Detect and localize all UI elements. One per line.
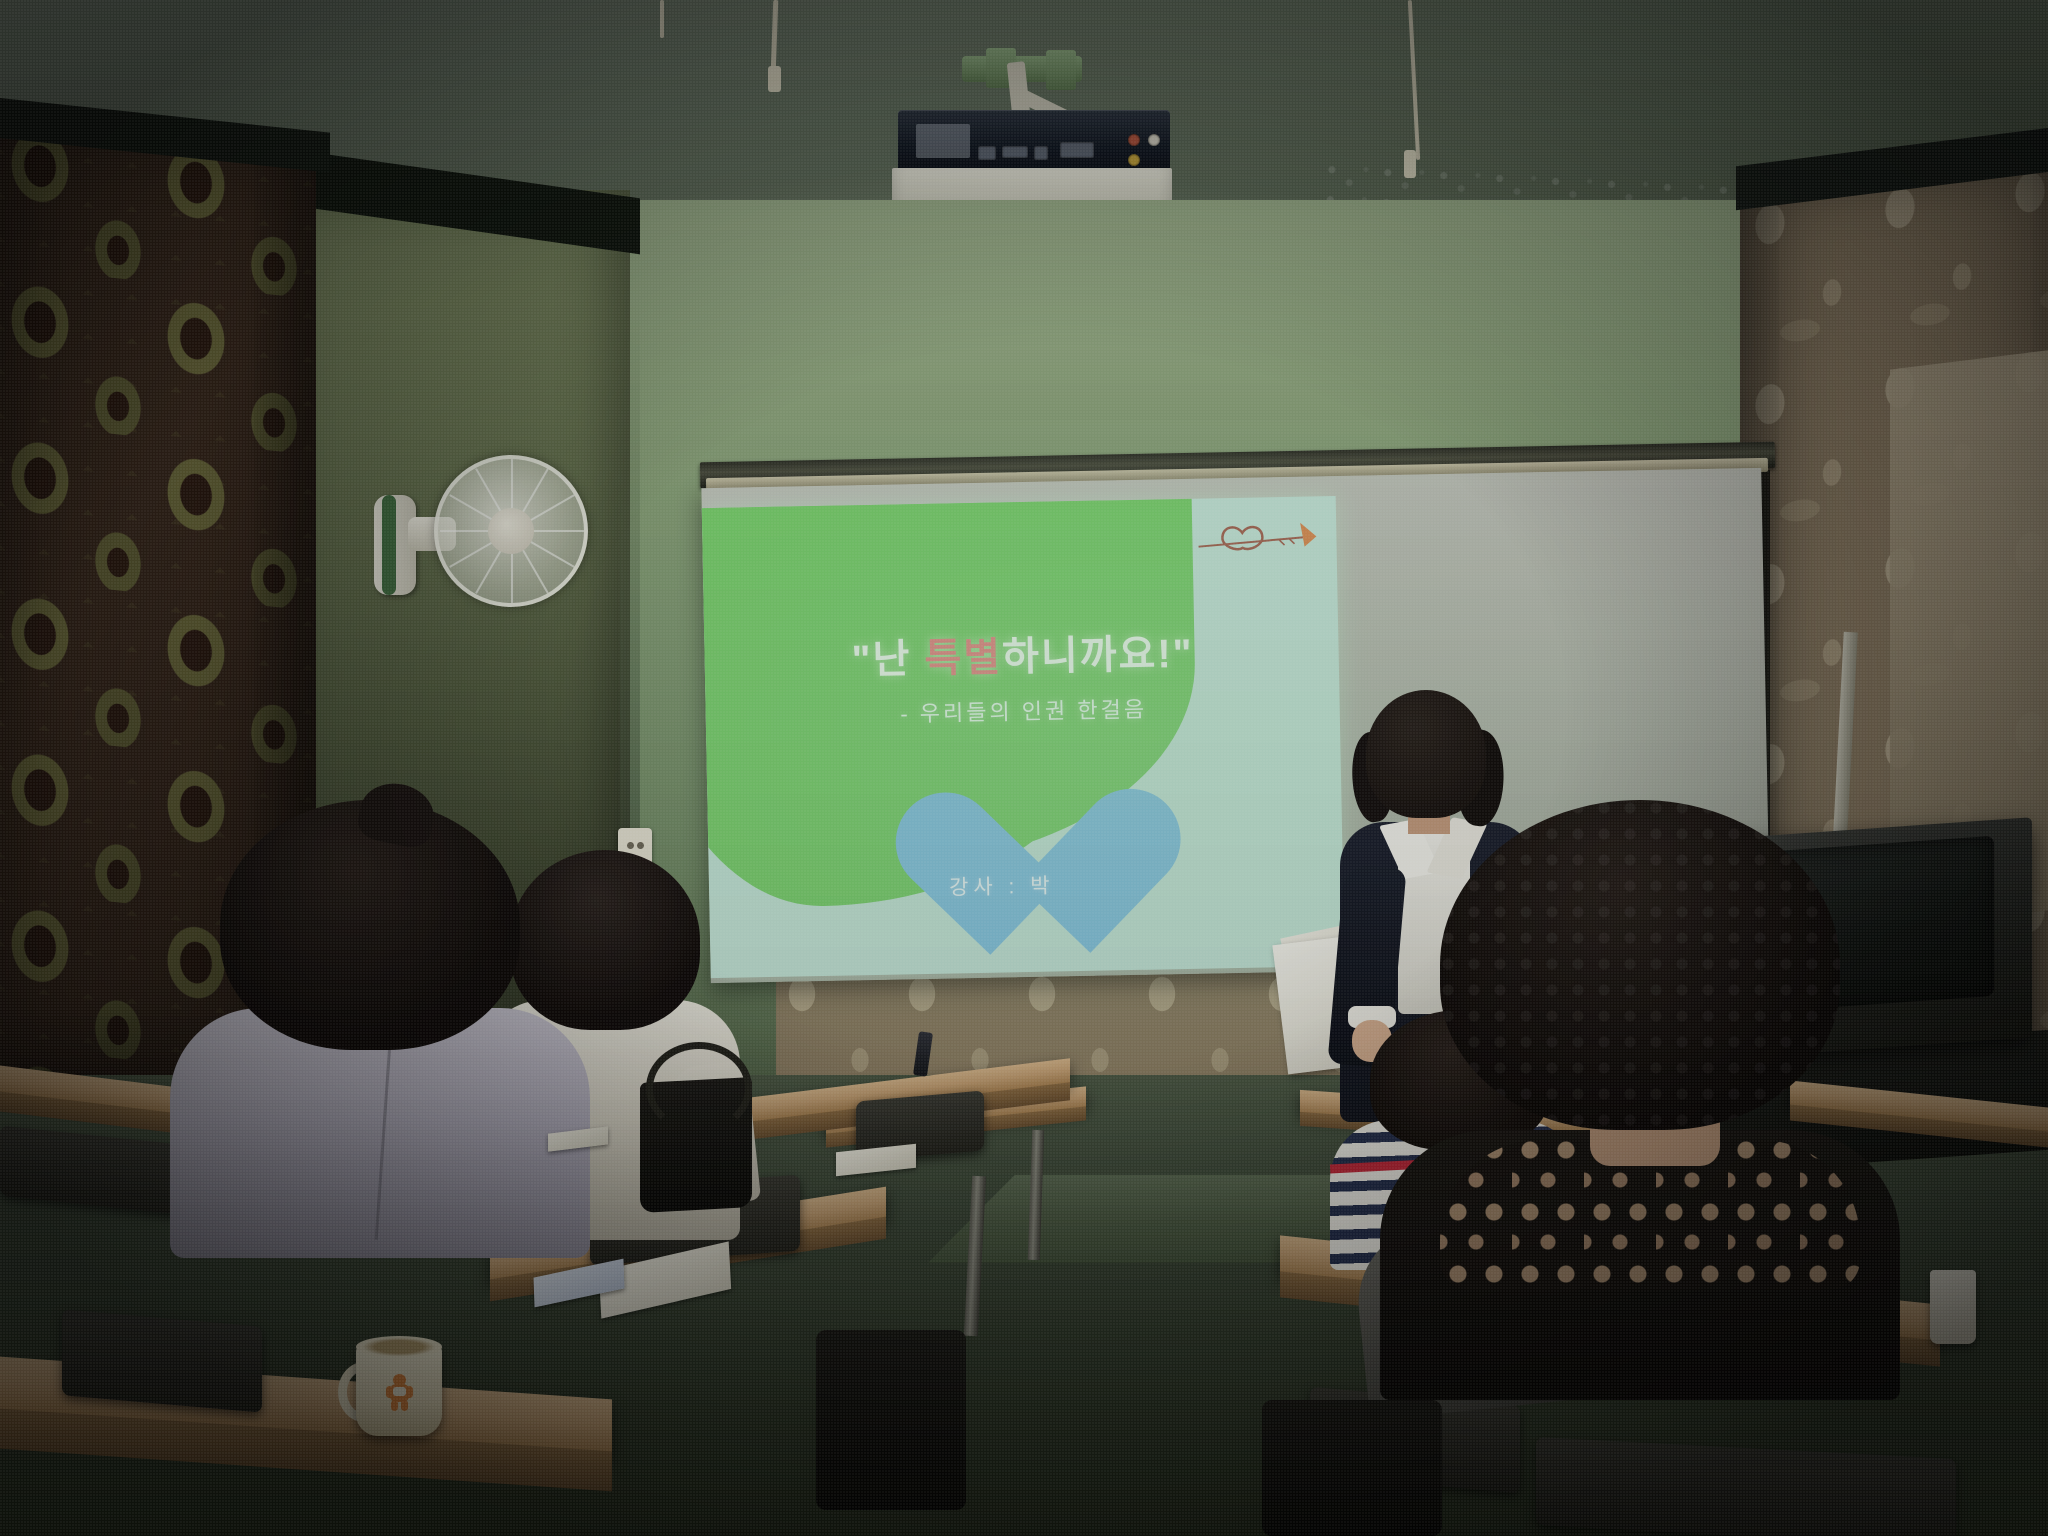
socket-hole-left — [627, 842, 634, 849]
projector-port-rca-yellow — [1128, 154, 1140, 166]
heart-kite-logo-icon — [1192, 506, 1323, 554]
wall-fan-hub — [488, 508, 534, 554]
wall-fan-bracket-insert — [382, 495, 396, 595]
coffee-mug-rim — [356, 1336, 442, 1358]
hanging-cord-far-left — [660, 0, 664, 38]
projector-rear-label — [916, 124, 970, 158]
bag-under-desk[interactable] — [816, 1330, 966, 1510]
chair-front-left[interactable] — [62, 1309, 262, 1412]
slide-presenter-credit: 강사 : 박 — [949, 867, 1190, 902]
attendee-lace-top — [1380, 800, 1900, 1400]
teddy-bear-icon — [386, 1374, 412, 1412]
projector-port-rca-red — [1128, 134, 1140, 146]
teddy-bear-arm-right — [406, 1386, 413, 1398]
projector-port-rca-white — [1148, 134, 1160, 146]
wall-fan-cage — [434, 455, 588, 607]
projected-slide: "난 특별하니까요!" - 우리들의 인권 한걸음 강사 : 박 — [702, 496, 1345, 978]
paper-cup[interactable] — [1930, 1270, 1976, 1344]
socket-hole-right — [637, 842, 644, 849]
hanging-cord-right-cap — [1404, 150, 1416, 178]
projector-port-serial — [1002, 146, 1028, 158]
slide-title: "난 특별하니까요!" — [722, 618, 1323, 688]
photo-scene: "난 특별하니까요!" - 우리들의 인권 한걸음 강사 : 박 — [0, 0, 2048, 1536]
projector-mount-bracket-right — [1046, 50, 1076, 90]
teddy-bear-leg-left — [391, 1400, 398, 1411]
slide-title-prefix: "난 — [851, 637, 925, 682]
projector-port-usb — [1034, 146, 1048, 160]
slide-title-suffix: 하니까요!" — [1002, 632, 1194, 680]
teddy-bear-arm-left — [386, 1386, 393, 1398]
slide-title-highlight: 특별 — [924, 635, 1002, 680]
presenter-hair — [1366, 690, 1486, 818]
coffee-mug[interactable] — [342, 1330, 448, 1438]
hanging-cord-left-cap — [768, 66, 781, 92]
handbag-strap — [646, 1042, 752, 1134]
bag-right-floor[interactable] — [1262, 1400, 1442, 1536]
teddy-bear-leg-right — [401, 1400, 408, 1411]
attendee-lavender-jacket — [170, 800, 590, 1250]
teddy-bear-bib — [393, 1387, 406, 1396]
projector-port-lan — [978, 146, 996, 160]
wall-fan — [398, 455, 578, 605]
attendee-lace-hair-texture — [1440, 800, 1840, 1130]
projector-port-vga — [1060, 142, 1094, 158]
